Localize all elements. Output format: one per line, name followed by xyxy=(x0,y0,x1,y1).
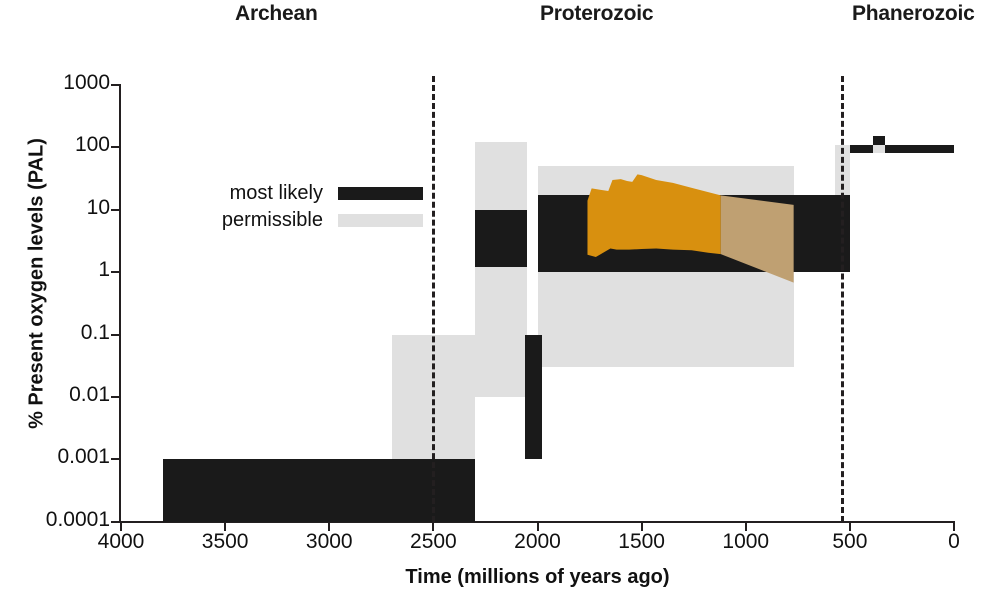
y-axis-tick-label: 0.0001 xyxy=(0,508,110,532)
legend-label-permissible: permissible xyxy=(193,209,338,232)
y-axis-tick xyxy=(111,84,120,86)
era-divider-line xyxy=(432,76,435,522)
y-axis-tick-label: 0.01 xyxy=(0,383,110,407)
y-axis-tick xyxy=(111,334,120,336)
y-axis-tick xyxy=(111,146,120,148)
x-axis-title: Time (millions of years ago) xyxy=(121,566,954,589)
eon-label-archean: Archean xyxy=(235,2,318,26)
y-axis-tick xyxy=(111,396,120,398)
y-axis-tick-label: 1000 xyxy=(0,71,110,95)
legend-item-most-likely: most likely xyxy=(193,180,423,207)
y-axis-tick xyxy=(111,458,120,460)
y-axis-tick-label: 0.1 xyxy=(0,321,110,345)
data-band-permissible xyxy=(873,145,885,154)
y-axis-tick-label: 1 xyxy=(0,258,110,282)
era-divider-line xyxy=(841,76,844,522)
legend: most likely permissible xyxy=(193,180,423,234)
data-band-likely xyxy=(475,210,527,267)
data-band-likely xyxy=(163,459,475,521)
data-band-likely xyxy=(538,195,842,272)
eon-label-phanerozoic: Phanerozoic xyxy=(852,2,975,26)
y-axis-tick-label: 0.001 xyxy=(0,445,110,469)
x-axis-tick-label: 3000 xyxy=(269,530,389,554)
x-axis-tick-label: 1000 xyxy=(686,530,806,554)
data-band-likely xyxy=(850,145,873,154)
eon-label-proterozoic: Proterozoic xyxy=(540,2,653,26)
y-axis-tick xyxy=(111,209,120,211)
x-axis-tick-label: 3500 xyxy=(165,530,285,554)
x-axis-tick-label: 1500 xyxy=(582,530,702,554)
data-band-likely xyxy=(885,145,954,154)
y-axis-title: % Present oxygen levels (PAL) xyxy=(26,59,49,509)
legend-swatch-permissible xyxy=(338,214,423,227)
y-axis-tick xyxy=(111,271,120,273)
data-band-permissible xyxy=(475,142,527,397)
data-band-likely xyxy=(525,335,542,460)
legend-label-most-likely: most likely xyxy=(193,182,338,205)
x-axis-tick-label: 0 xyxy=(894,530,1000,554)
legend-swatch-most-likely xyxy=(338,187,423,200)
legend-item-permissible: permissible xyxy=(193,207,423,234)
data-band-likely xyxy=(873,136,885,145)
y-axis-tick xyxy=(111,521,120,523)
x-axis-tick-label: 4000 xyxy=(61,530,181,554)
x-axis-tick-label: 2500 xyxy=(373,530,493,554)
x-axis-tick-label: 2000 xyxy=(478,530,598,554)
chart-root: Archean Proterozoic Phanerozoic % Presen… xyxy=(0,0,1000,602)
x-axis-tick-label: 500 xyxy=(790,530,910,554)
y-axis-tick-label: 100 xyxy=(0,133,110,157)
y-axis-tick-label: 10 xyxy=(0,196,110,220)
